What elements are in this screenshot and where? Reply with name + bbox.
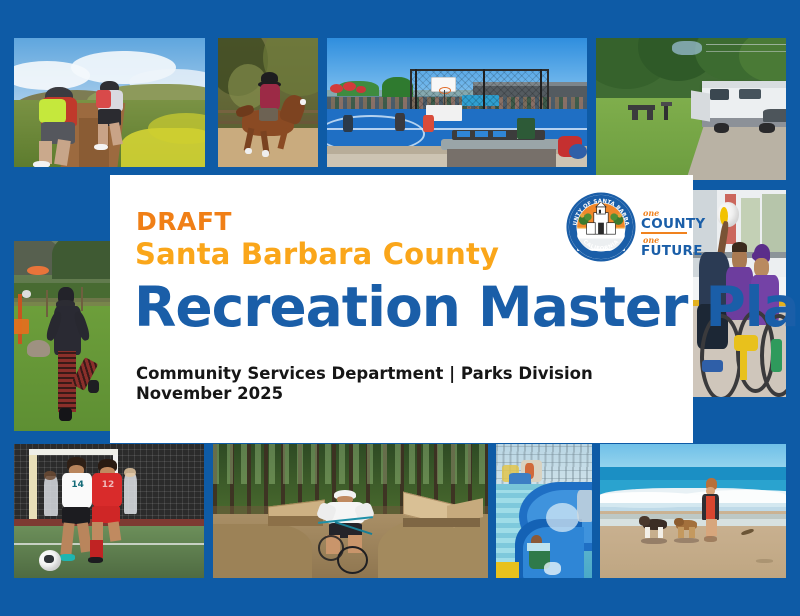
photo-water-slide <box>496 444 592 578</box>
photo-disc-golf <box>14 241 110 431</box>
photo-soccer-match: 14 12 <box>14 444 204 578</box>
cover-page: 14 12 <box>0 0 800 616</box>
county-logo: COUNTY OF SANTA BARBARA CALIFORNIA one C… <box>565 191 685 275</box>
tagline-future: FUTURE <box>641 244 689 258</box>
photo-trail-runners <box>14 38 205 167</box>
photo-horseback-rider <box>218 38 318 167</box>
tagline-divider <box>641 232 687 234</box>
county-name: Santa Barbara County <box>135 237 499 271</box>
photo-beach-dog-walk <box>600 444 786 578</box>
draft-label: DRAFT <box>136 207 232 236</box>
photo-basketball-court <box>327 38 587 167</box>
department-line: Community Services Department | Parks Di… <box>136 364 593 383</box>
county-seal-icon: COUNTY OF SANTA BARBARA CALIFORNIA <box>565 191 637 263</box>
photo-mountain-bike-park <box>213 444 488 578</box>
date-line: November 2025 <box>136 384 283 403</box>
title-card: DRAFT Santa Barbara County Recreation Ma… <box>110 175 693 443</box>
photo-rv-campground <box>596 38 786 180</box>
tagline-county: COUNTY <box>641 217 689 231</box>
page-title: Recreation Master Plan <box>134 275 800 339</box>
one-county-one-future-tagline: one COUNTY one FUTURE <box>641 209 689 258</box>
